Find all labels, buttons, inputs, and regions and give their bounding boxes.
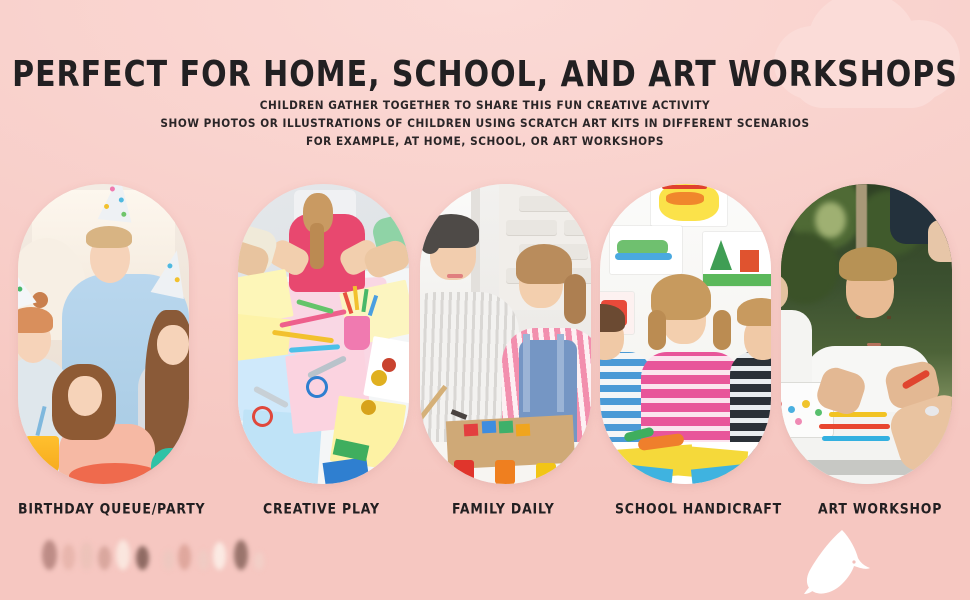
caption-creative-play: CREATIVE PLAY bbox=[263, 500, 380, 517]
gallery-card-art-workshop[interactable] bbox=[781, 184, 952, 484]
photo-family-daily bbox=[420, 184, 591, 484]
caption-art-workshop: ART WORKSHOP bbox=[818, 500, 942, 517]
photo-school-handicraft bbox=[600, 184, 771, 484]
subtitle-line-1: CHILDREN GATHER TOGETHER TO SHARE THIS F… bbox=[0, 99, 970, 112]
gallery-card-creative-play[interactable] bbox=[238, 184, 409, 484]
caption-birthday: BIRTHDAY QUEUE/PARTY bbox=[18, 500, 205, 517]
photo-creative-play bbox=[238, 184, 409, 484]
page-title: PERFECT FOR HOME, SCHOOL, AND ART WORKSH… bbox=[0, 54, 970, 95]
photo-gallery bbox=[0, 184, 970, 484]
caption-school-handicraft: SCHOOL HANDICRAFT bbox=[615, 500, 782, 517]
gallery-card-school-handicraft[interactable] bbox=[600, 184, 771, 484]
subtitle-line-3: FOR EXAMPLE, AT HOME, SCHOOL, OR ART WOR… bbox=[0, 135, 970, 148]
gallery-card-birthday[interactable] bbox=[18, 184, 189, 484]
gallery-card-family-daily[interactable] bbox=[420, 184, 591, 484]
caption-family-daily: FAMILY DAILY bbox=[452, 500, 555, 517]
dove-icon bbox=[792, 526, 878, 598]
promo-banner: PERFECT FOR HOME, SCHOOL, AND ART WORKSH… bbox=[0, 0, 970, 600]
subtitle-line-2: SHOW PHOTOS OR ILLUSTRATIONS OF CHILDREN… bbox=[0, 117, 970, 130]
decorative-dots bbox=[36, 534, 226, 574]
photo-birthday-party bbox=[18, 184, 189, 484]
photo-art-workshop bbox=[781, 184, 952, 484]
